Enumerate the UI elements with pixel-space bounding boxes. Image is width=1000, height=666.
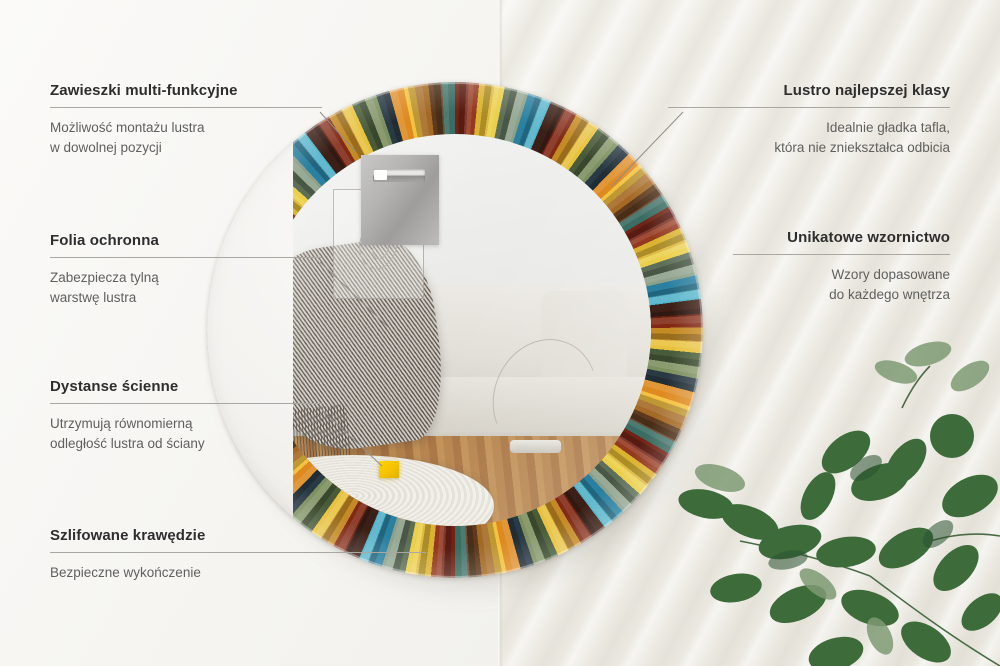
callout-wall-spacers-title: Dystanse ścienne: [50, 378, 322, 395]
callout-polished-edges-desc: Bezpieczne wykończenie: [50, 563, 426, 583]
callout-unique-design-rule: [733, 254, 950, 255]
callout-unique-design: Unikatowe wzornictwo Wzory dopasowane do…: [733, 229, 950, 304]
callout-hangers-desc: Możliwość montażu lustra w dowolnej pozy…: [50, 118, 322, 157]
callout-unique-design-desc: Wzory dopasowane do każdego wnętrza: [733, 265, 950, 304]
infographic-stage: Zawieszki multi-funkcyjne Możliwość mont…: [0, 0, 1000, 666]
callout-premium-mirror: Lustro najlepszej klasy Idealnie gładka …: [668, 82, 950, 157]
callout-protective-film-desc: Zabezpiecza tylną warstwę lustra: [50, 268, 322, 307]
leader-line-film: [320, 262, 388, 327]
callout-polished-edges-title: Szlifowane krawędzie: [50, 527, 426, 544]
callout-protective-film-title: Folia ochronna: [50, 232, 322, 249]
callout-premium-mirror-title: Lustro najlepszej klasy: [668, 82, 950, 99]
callout-wall-spacers-rule: [50, 403, 322, 404]
callout-premium-mirror-desc: Idealnie gładka tafla, która nie znieksz…: [668, 118, 950, 157]
callout-hangers: Zawieszki multi-funkcyjne Możliwość mont…: [50, 82, 322, 157]
callout-polished-edges-rule: [50, 552, 426, 553]
callout-wall-spacers: Dystanse ścienne Utrzymują równomierną o…: [50, 378, 322, 453]
leader-line-spacer: [320, 408, 382, 466]
callout-hangers-title: Zawieszki multi-funkcyjne: [50, 82, 322, 99]
callout-protective-film-rule: [50, 257, 322, 258]
callout-premium-mirror-rule: [668, 107, 950, 108]
callout-unique-design-title: Unikatowe wzornictwo: [733, 229, 950, 246]
callout-protective-film: Folia ochronna Zabezpiecza tylną warstwę…: [50, 232, 322, 307]
callout-hangers-rule: [50, 107, 322, 108]
callout-wall-spacers-desc: Utrzymują równomierną odległość lustra o…: [50, 414, 322, 453]
leader-line-hanger: [320, 112, 356, 152]
callout-polished-edges: Szlifowane krawędzie Bezpieczne wykończe…: [50, 527, 426, 583]
